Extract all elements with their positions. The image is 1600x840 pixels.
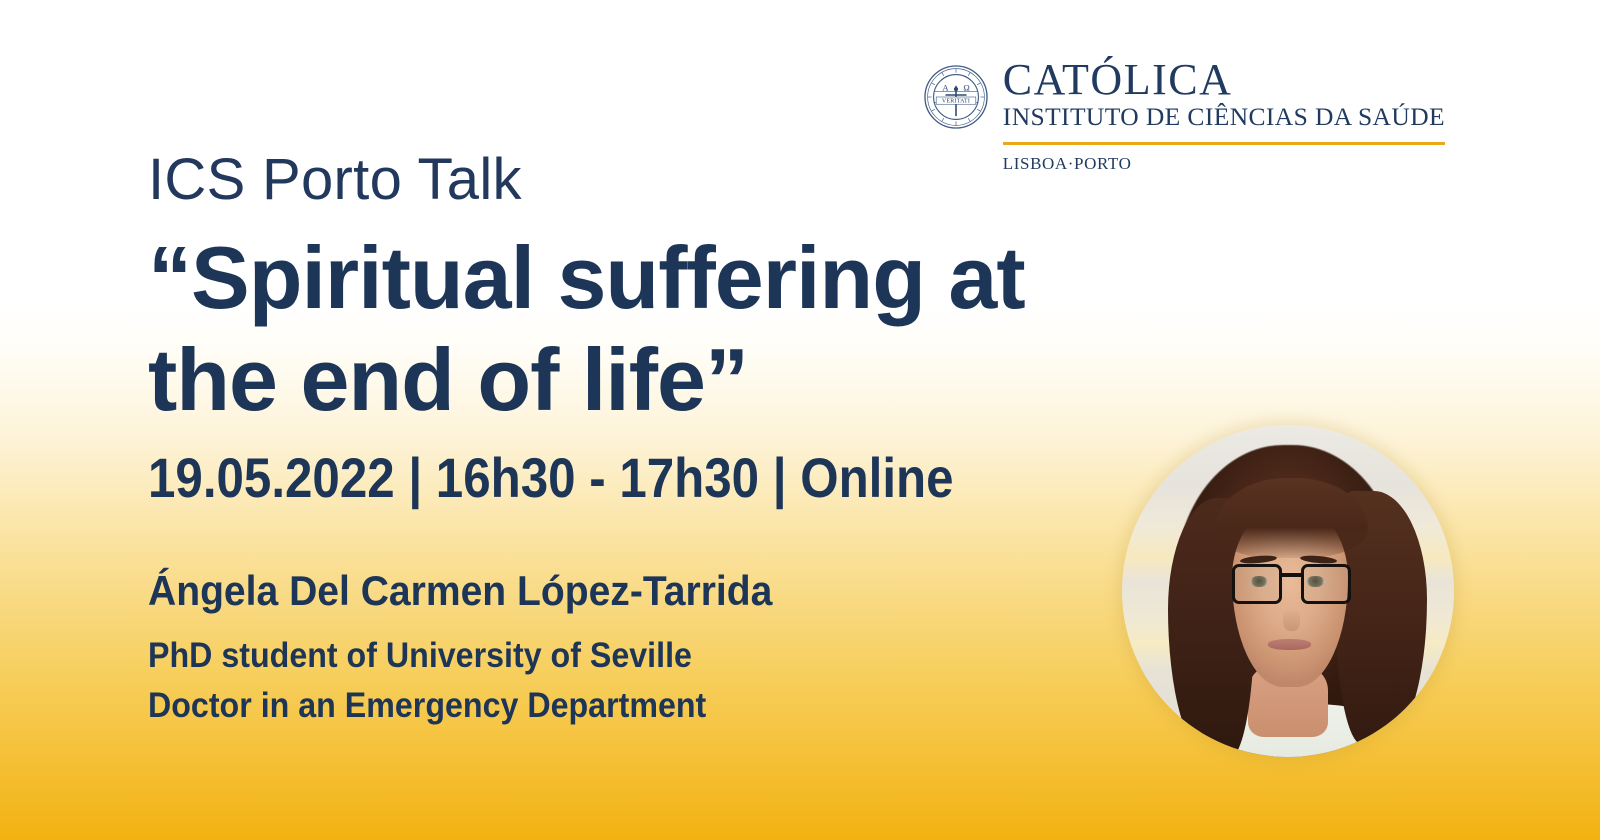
logo-institute-name: INSTITUTO DE CIÊNCIAS DA SAÚDE [1003,103,1445,131]
talk-title: “Spiritual suffering at the end of life” [148,227,1148,431]
speaker-block: Ángela Del Carmen López-Tarrida PhD stud… [148,567,1148,731]
talk-title-line-1: “Spiritual suffering at [148,227,1148,329]
event-datetime: 19.05.2022 | 16h30 - 17h30 | Online [148,447,1028,509]
event-poster: A Ω VERITATI CATÓLICA INSTITUTO DE CIÊNC… [0,0,1600,840]
portrait-mouth [1268,639,1311,650]
glasses-bridge [1282,573,1301,577]
logo-wordmark: CATÓLICA [1003,58,1445,101]
glasses-lens-left [1232,564,1282,604]
portrait-nose [1283,608,1300,631]
logo-gold-rule [1003,142,1445,145]
speaker-affiliation: PhD student of University of Seville Doc… [148,631,1068,730]
seal-omega-glyph: Ω [963,82,969,92]
speaker-affiliation-line-1: PhD student of University of Seville [148,631,1068,681]
glasses-lens-right [1301,564,1351,604]
seal-motto-text: VERITATI [942,99,970,105]
portrait-glasses [1232,564,1352,604]
speaker-photo [1122,425,1454,757]
talk-title-line-2: the end of life” [148,329,1148,431]
poster-content: ICS Porto Talk “Spiritual suffering at t… [148,150,1148,730]
university-seal-icon: A Ω VERITATI [923,64,989,130]
speaker-name: Ángela Del Carmen López-Tarrida [148,567,1078,615]
speaker-photo-image [1122,425,1454,757]
event-series-kicker: ICS Porto Talk [148,150,1148,211]
seal-alpha-glyph: A [942,82,949,92]
speaker-affiliation-line-2: Doctor in an Emergency Department [148,681,1068,731]
